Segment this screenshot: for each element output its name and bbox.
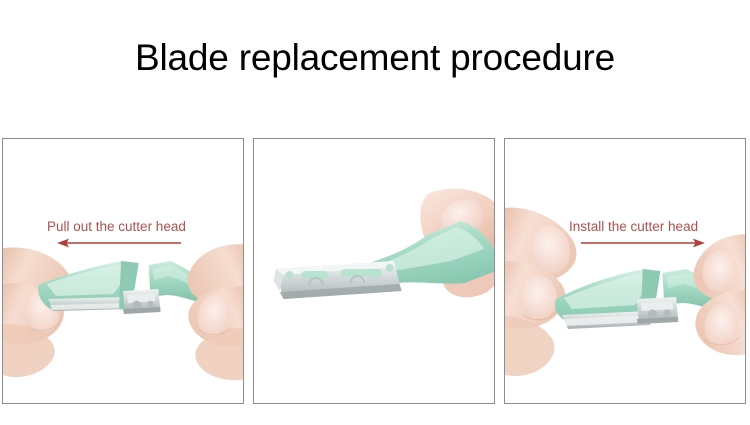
page-title: Blade replacement procedure	[0, 36, 750, 80]
instructional-graphic: Blade replacement procedure	[0, 0, 750, 425]
arrow-right-icon	[579, 237, 705, 249]
panel-caption-install: Install the cutter head	[569, 219, 698, 235]
photo-cutter-head-blade-detail	[254, 139, 494, 403]
photo-install-cutter-head	[505, 139, 745, 403]
panel-install-step: Install the cutter head	[504, 138, 746, 404]
panel-blade-detail-step	[253, 138, 495, 404]
photo-pull-out-cutter-head	[3, 139, 243, 403]
arrow-left-icon	[57, 237, 183, 249]
panel-row: Pull out the cutter head	[2, 138, 746, 404]
blade-clip	[123, 289, 160, 314]
panel-pull-out-step: Pull out the cutter head	[2, 138, 244, 404]
panel-caption-pull-out: Pull out the cutter head	[47, 219, 186, 235]
blade-clip	[637, 297, 678, 324]
